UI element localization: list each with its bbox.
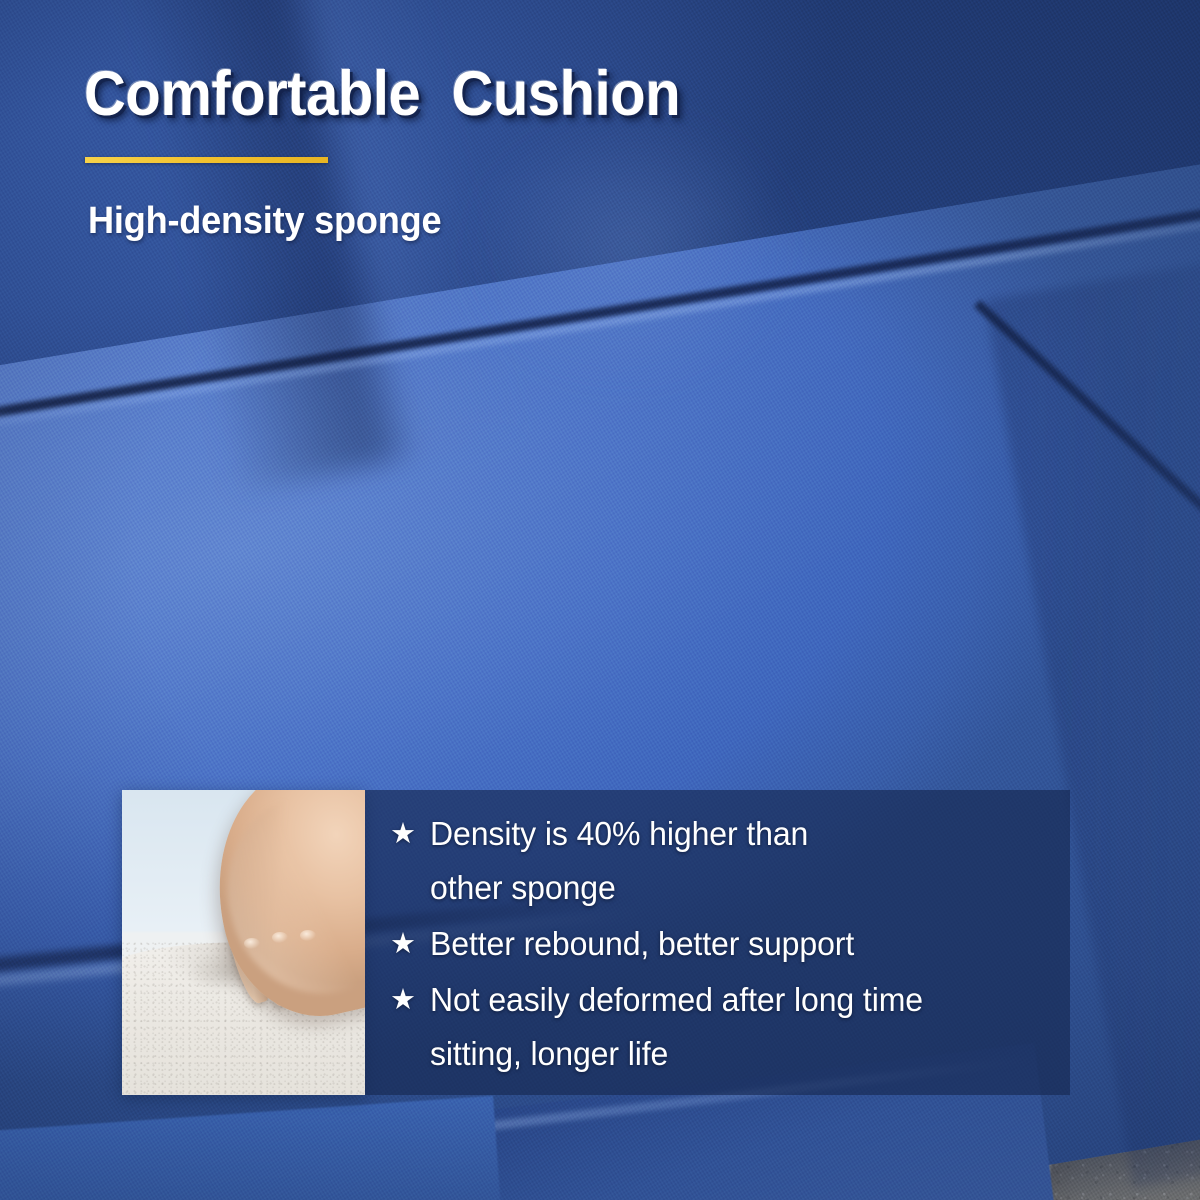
page-title: Comfortable Cushion	[84, 58, 680, 130]
feature-bullet-item: ★ Not easily deformed after long time si…	[390, 973, 1090, 1081]
title-underline	[85, 157, 328, 163]
feature-bullet-item: ★ Density is 40% higher than other spong…	[390, 807, 1090, 915]
feature-bullet-text: Density is 40% higher than other sponge	[430, 807, 808, 915]
knuckle	[244, 938, 260, 949]
star-icon: ★	[390, 973, 430, 1027]
feature-bullet-item: ★ Better rebound, better support	[390, 917, 1090, 971]
star-icon: ★	[390, 917, 430, 971]
page-subtitle: High-density sponge	[88, 200, 441, 243]
knuckle	[300, 930, 316, 941]
knuckle	[272, 932, 288, 943]
product-feature-graphic: Comfortable Cushion High-density sponge …	[0, 0, 1200, 1200]
feature-bullet-list: ★ Density is 40% higher than other spong…	[390, 807, 1090, 1083]
star-icon: ★	[390, 807, 430, 861]
hand-pressing-foam-photo	[122, 790, 365, 1095]
feature-bullet-text: Not easily deformed after long time sitt…	[430, 973, 923, 1081]
feature-bullet-text: Better rebound, better support	[430, 917, 854, 971]
